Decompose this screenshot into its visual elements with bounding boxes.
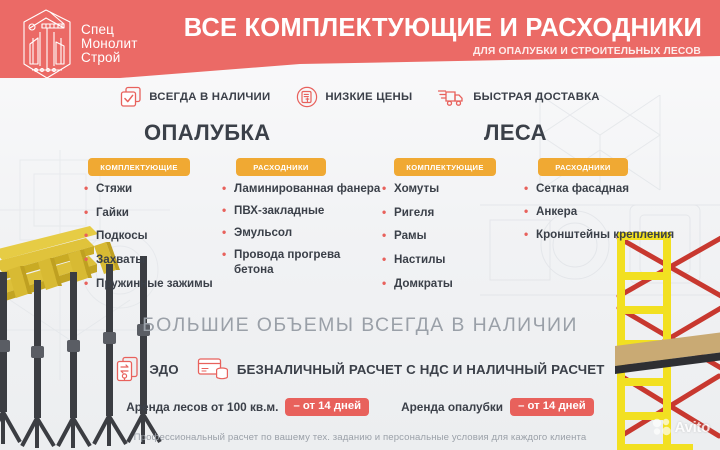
list-item: Гайки xyxy=(84,206,234,220)
volumes-banner: БОЛЬШИЕ ОБЪЕМЫ ВСЕГДА В НАЛИЧИИ xyxy=(0,313,720,337)
delivery-truck-icon xyxy=(438,86,466,108)
feature-label: ВСЕГДА В НАЛИЧИИ xyxy=(149,91,270,103)
list-item: Захваты xyxy=(84,253,234,267)
list-item: Подкосы xyxy=(84,229,234,243)
list-item: Ригеля xyxy=(382,206,522,220)
payment-methods-row: ЭДО БЕЗНАЛИЧНЫЙ РАСЧЕТ С НДС И НАЛИЧНЫЙ … xyxy=(0,352,720,386)
payment-edo: ЭДО xyxy=(115,355,178,383)
list-item: Домкраты xyxy=(382,277,522,291)
pill-formwork-consumables[interactable]: РАСХОДНИКИ xyxy=(236,158,326,176)
footer-note-text: Профессиональный расчет по вашему тех. з… xyxy=(134,432,587,443)
list-item: Сетка фасадная xyxy=(524,182,684,196)
brand-line-3: Строй xyxy=(81,51,138,65)
list-item: Анкера xyxy=(524,205,684,219)
card-and-cash-icon xyxy=(197,356,229,382)
building-crane-logo-icon xyxy=(20,8,74,80)
list-scaffold-components: Хомуты Ригеля Рамы Настилы Домкраты xyxy=(382,182,522,300)
pill-formwork-components[interactable]: КОМПЛЕКТУЮЩИЕ xyxy=(88,158,190,176)
feature-in-stock: ВСЕГДА В НАЛИЧИИ xyxy=(120,86,270,108)
checkbox-stack-icon xyxy=(120,86,142,108)
rental-term-badge: – от 14 дней xyxy=(285,398,369,416)
list-item: Рамы xyxy=(382,229,522,243)
feature-badges: ВСЕГДА В НАЛИЧИИ НИЗКИЕ ЦЕНЫ БЫСТРАЯ ДОС… xyxy=(0,82,720,112)
feature-low-prices: НИЗКИЕ ЦЕНЫ xyxy=(296,86,412,108)
list-item: Кронштейны крепления xyxy=(524,228,684,242)
low-price-tag-icon xyxy=(296,86,318,108)
page-subtitle: ДЛЯ ОПАЛУБКИ И СТРОИТЕЛЬНЫХ ЛЕСОВ xyxy=(473,46,701,57)
list-item: Настилы xyxy=(382,253,522,267)
header-content: Спец Монолит Строй ВСЕ КОМПЛЕКТУЮЩИЕ И Р… xyxy=(0,0,720,78)
pill-scaffold-consumables[interactable]: РАСХОДНИКИ xyxy=(538,158,628,176)
rental-terms-row: Аренда лесов от 100 кв.м. – от 14 дней А… xyxy=(0,396,720,418)
list-item: Провода прогрева бетона xyxy=(222,248,382,276)
rental-scaffolding: Аренда лесов от 100 кв.м. – от 14 дней xyxy=(126,398,369,416)
avito-watermark-text: Avito xyxy=(675,419,710,436)
brand-logo[interactable]: Спец Монолит Строй xyxy=(20,8,138,80)
brand-line-2: Монолит xyxy=(81,37,138,51)
footer-note: Профессиональный расчет по вашему тех. з… xyxy=(0,428,720,446)
list-formwork-consumables: Ламинированная фанера ПВХ-закладные Эмул… xyxy=(222,182,382,285)
payment-label: ЭДО xyxy=(149,362,178,377)
list-item: Пружинные зажимы xyxy=(84,277,234,291)
feature-label: БЫСТРАЯ ДОСТАВКА xyxy=(473,91,599,103)
list-item: Ламинированная фанера xyxy=(222,182,382,196)
rental-text: Аренда лесов от 100 кв.м. xyxy=(126,400,278,414)
rental-term-badge: – от 14 дней xyxy=(510,398,594,416)
feature-label: НИЗКИЕ ЦЕНЫ xyxy=(325,91,412,103)
list-item: ПВХ-закладные xyxy=(222,204,382,218)
feature-fast-delivery: БЫСТРАЯ ДОСТАВКА xyxy=(438,86,599,108)
brand-name: Спец Монолит Строй xyxy=(81,23,138,66)
edo-document-exchange-icon xyxy=(115,355,141,383)
pill-scaffold-components[interactable]: КОМПЛЕКТУЮЩИЕ xyxy=(394,158,496,176)
volumes-banner-text: БОЛЬШИЕ ОБЪЕМЫ ВСЕГДА В НАЛИЧИИ xyxy=(142,314,578,337)
promo-card: Спец Монолит Строй ВСЕ КОМПЛЕКТУЮЩИЕ И Р… xyxy=(0,0,720,450)
section-title-formwork: ОПАЛУБКА xyxy=(144,120,271,146)
rental-formwork: Аренда опалубки – от 14 дней xyxy=(401,398,594,416)
list-scaffold-consumables: Сетка фасадная Анкера Кронштейны креплен… xyxy=(524,182,684,251)
avito-logo-icon xyxy=(652,418,672,436)
section-title-scaffolding: ЛЕСА xyxy=(484,120,547,146)
page-title: ВСЕ КОМПЛЕКТУЮЩИЕ И РАСХОДНИКИ xyxy=(184,16,702,42)
payment-label: БЕЗНАЛИЧНЫЙ РАСЧЕТ С НДС И НАЛИЧНЫЙ РАСЧ… xyxy=(237,362,605,377)
avito-watermark: Avito xyxy=(652,418,710,436)
rental-text: Аренда опалубки xyxy=(401,400,503,414)
list-item: Хомуты xyxy=(382,182,522,196)
list-formwork-components: Стяжи Гайки Подкосы Захваты Пружинные за… xyxy=(84,182,234,300)
list-item: Эмульсол xyxy=(222,226,382,240)
payment-cashless-and-cash: БЕЗНАЛИЧНЫЙ РАСЧЕТ С НДС И НАЛИЧНЫЙ РАСЧ… xyxy=(197,356,605,382)
list-item: Стяжи xyxy=(84,182,234,196)
brand-line-1: Спец xyxy=(81,23,138,37)
